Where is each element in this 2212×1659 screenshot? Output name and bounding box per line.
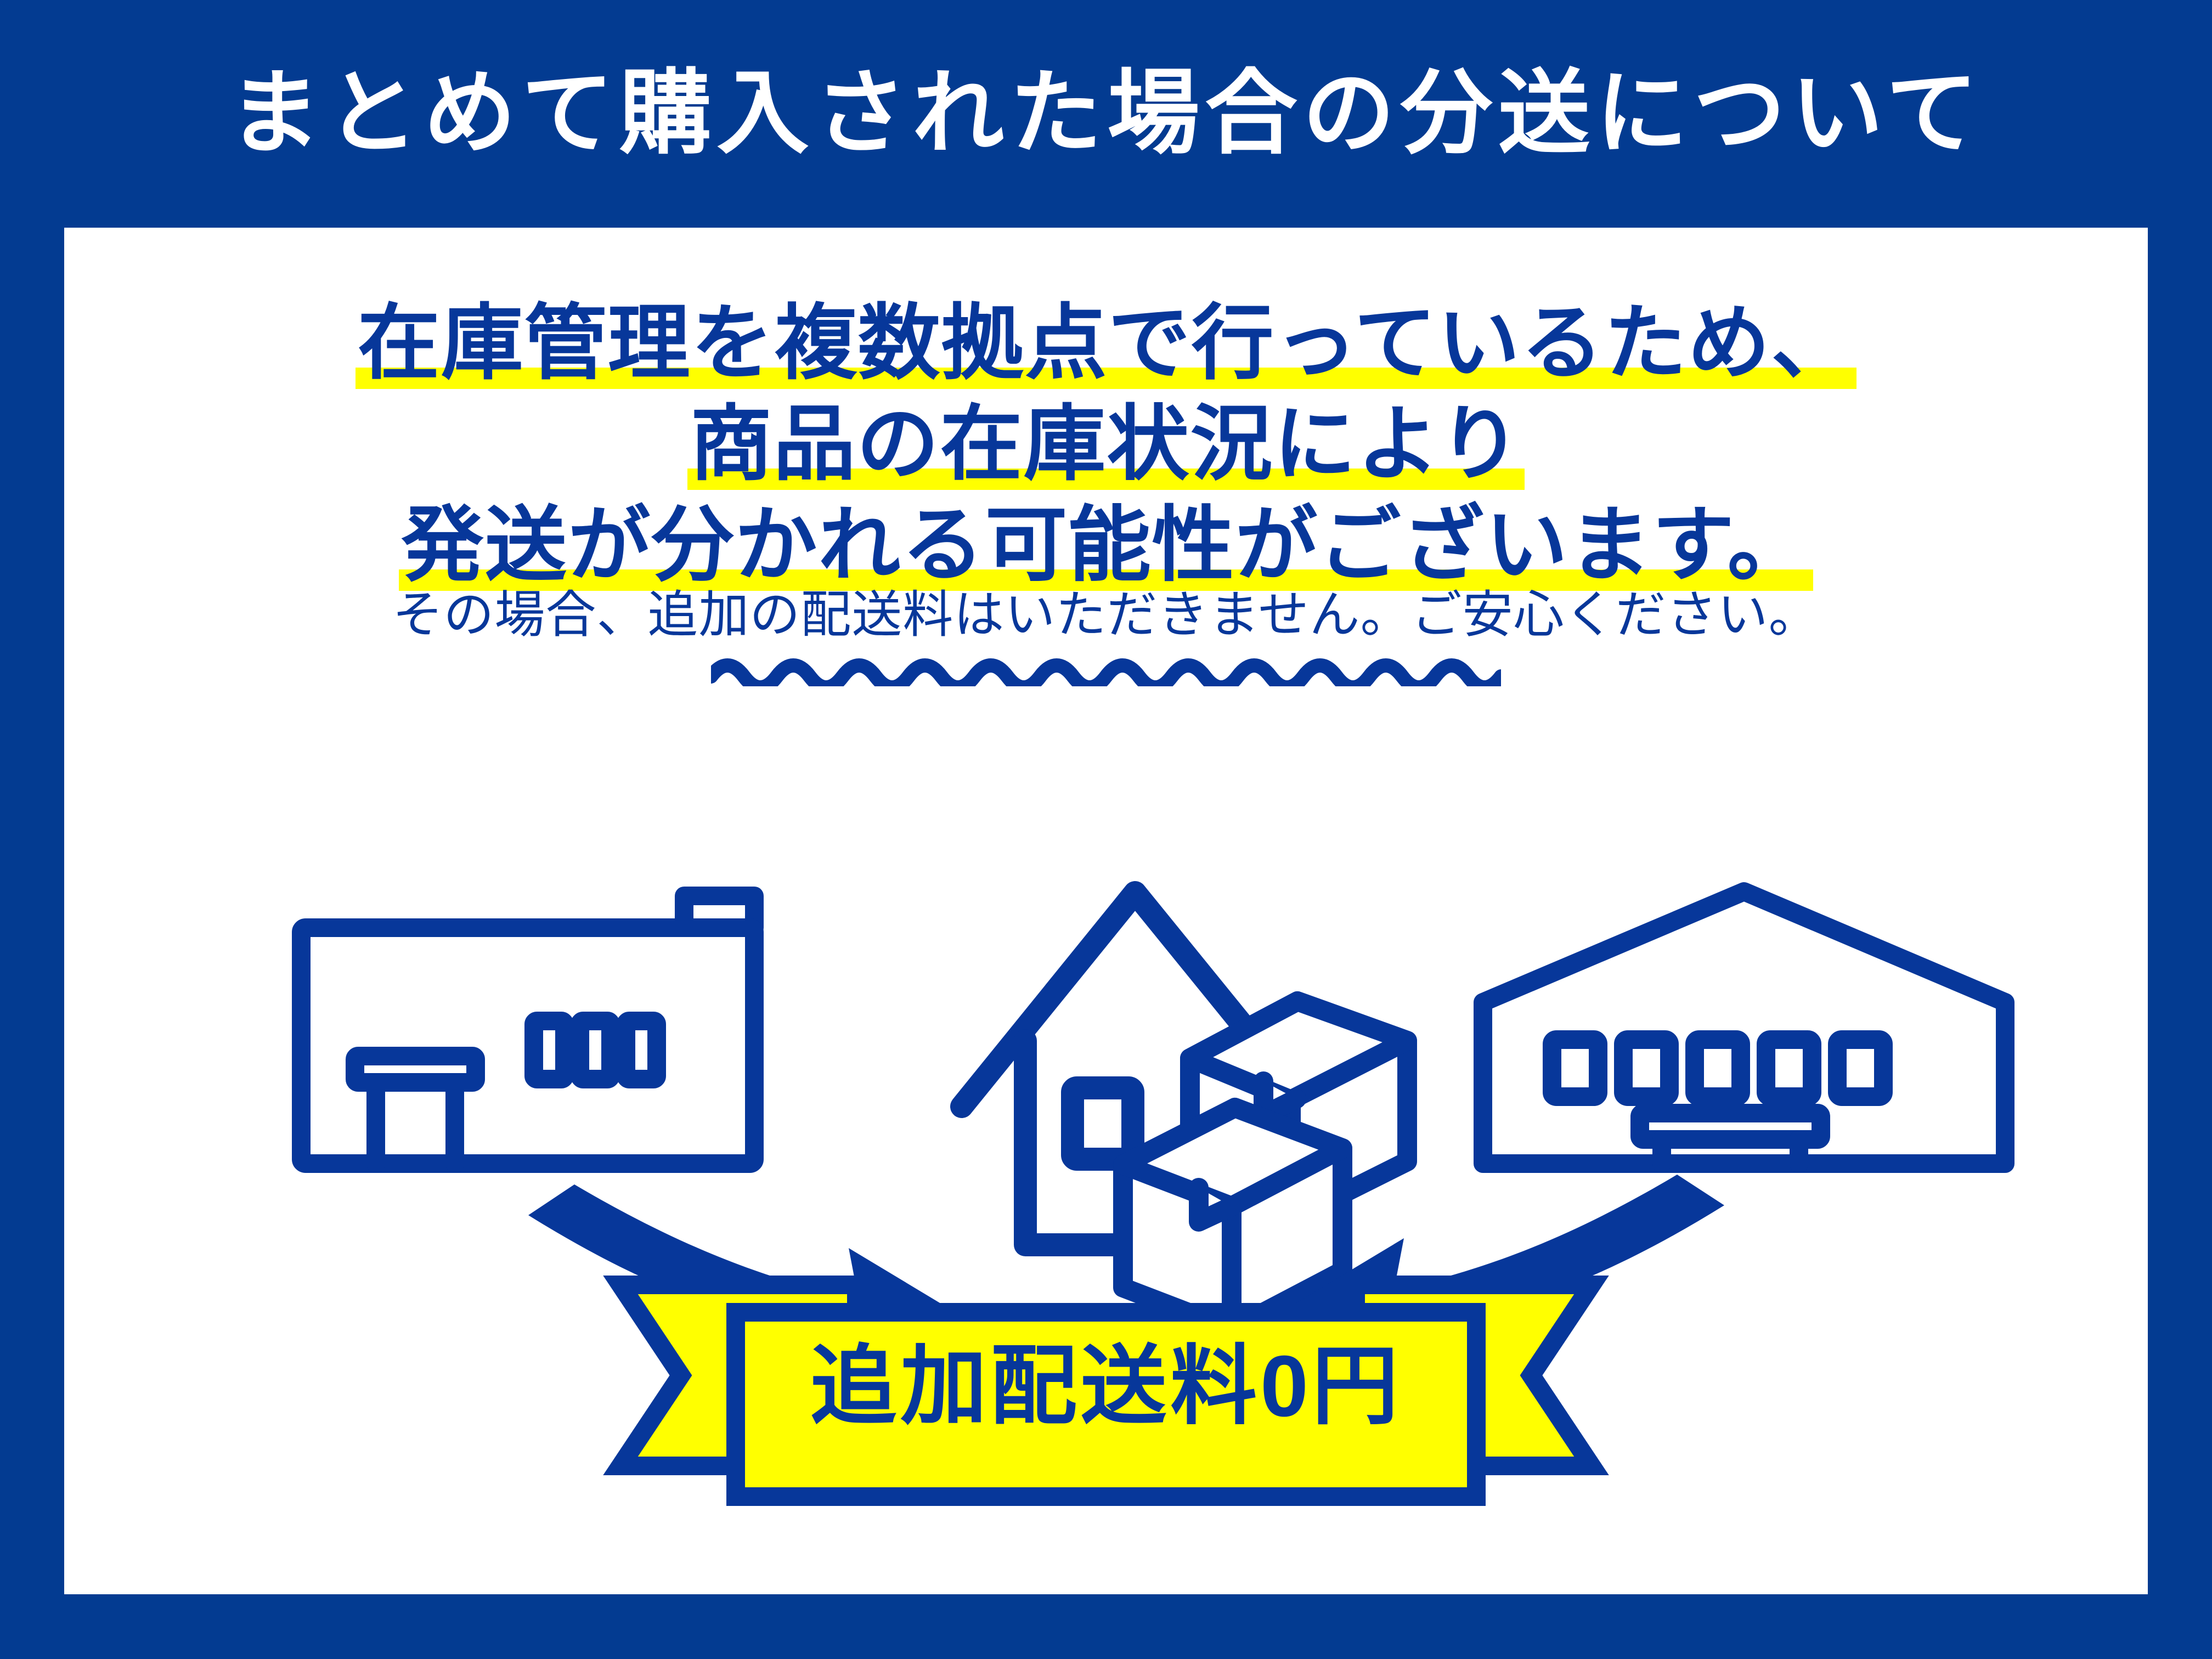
page-title: まとめて購入された場合の分送について [0, 60, 2212, 166]
warehouse-building-icon [1483, 891, 2005, 1164]
headline-block: 在庫管理を複数拠点で行っているため、 商品の在庫状況により 発送が分かれる可能性… [64, 302, 2148, 586]
headline-line-text: 商品の在庫状況により [687, 398, 1524, 490]
content-card: 在庫管理を複数拠点で行っているため、 商品の在庫状況により 発送が分かれる可能性… [64, 228, 2148, 1594]
headline-line: 商品の在庫状況により [64, 403, 2148, 485]
subtitle-text: その場合、追加の配送料はいただきません。ご安心ください。 [64, 590, 2148, 640]
banner-label: 追加配送料0円 [599, 1343, 1613, 1430]
subtitle-block: その場合、追加の配送料はいただきません。ご安心ください。 [64, 590, 2148, 686]
store-building-icon [301, 896, 754, 1164]
headline-line-text: 在庫管理を複数拠点で行っているため、 [356, 297, 1857, 389]
headline-line-text: 発送が分かれる可能性がございます。 [399, 499, 1813, 591]
headline-line: 発送が分かれる可能性がございます。 [64, 504, 2148, 586]
infographic-canvas: まとめて購入された場合の分送について 在庫管理を複数拠点で行っているため、 商品… [0, 0, 2212, 1659]
wavy-underline-decoration [711, 652, 1501, 686]
banner-ribbon: 追加配送料0円 [599, 1273, 1613, 1509]
headline-line: 在庫管理を複数拠点で行っているため、 [64, 302, 2148, 384]
